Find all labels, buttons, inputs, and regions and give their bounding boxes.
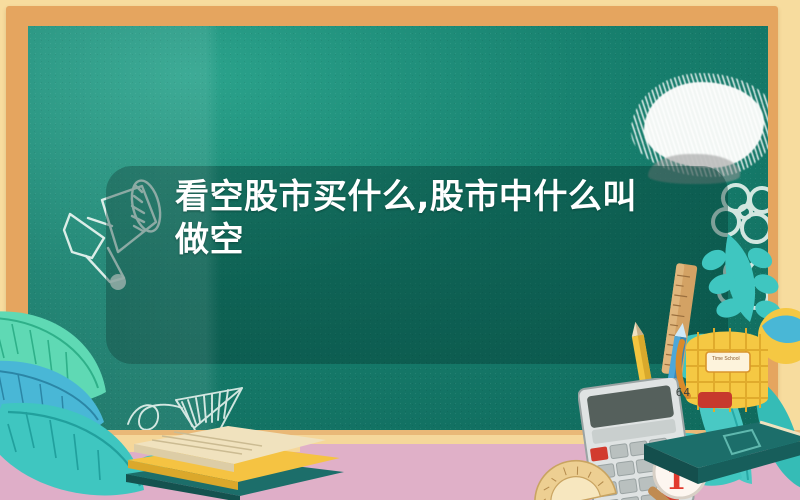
protractor-icon — [528, 448, 618, 500]
calculator-readout: 64 — [676, 386, 691, 399]
backpack-tag-label: Time School — [712, 356, 740, 362]
stacked-books — [118, 412, 348, 500]
book-dark — [640, 418, 800, 498]
page-title: 看空股市买什么,股市中什么叫做空 — [175, 176, 645, 262]
image-canvas: 看空股市买什么,股市中什么叫做空 — [0, 0, 800, 500]
